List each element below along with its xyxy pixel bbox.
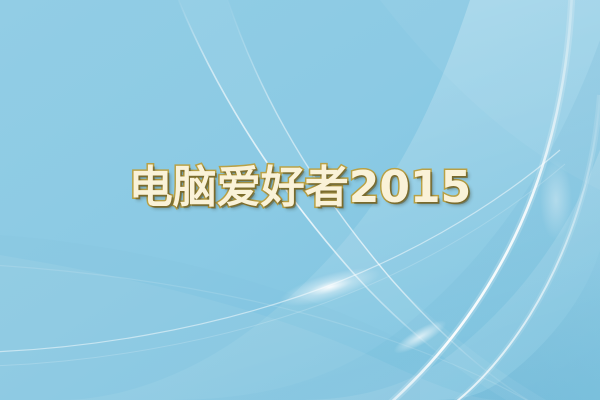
- poster-canvas: 电脑爱好者2015: [0, 0, 600, 400]
- page-title: 电脑爱好者2015: [129, 166, 471, 210]
- title-layer: 电脑爱好者2015: [0, 0, 600, 400]
